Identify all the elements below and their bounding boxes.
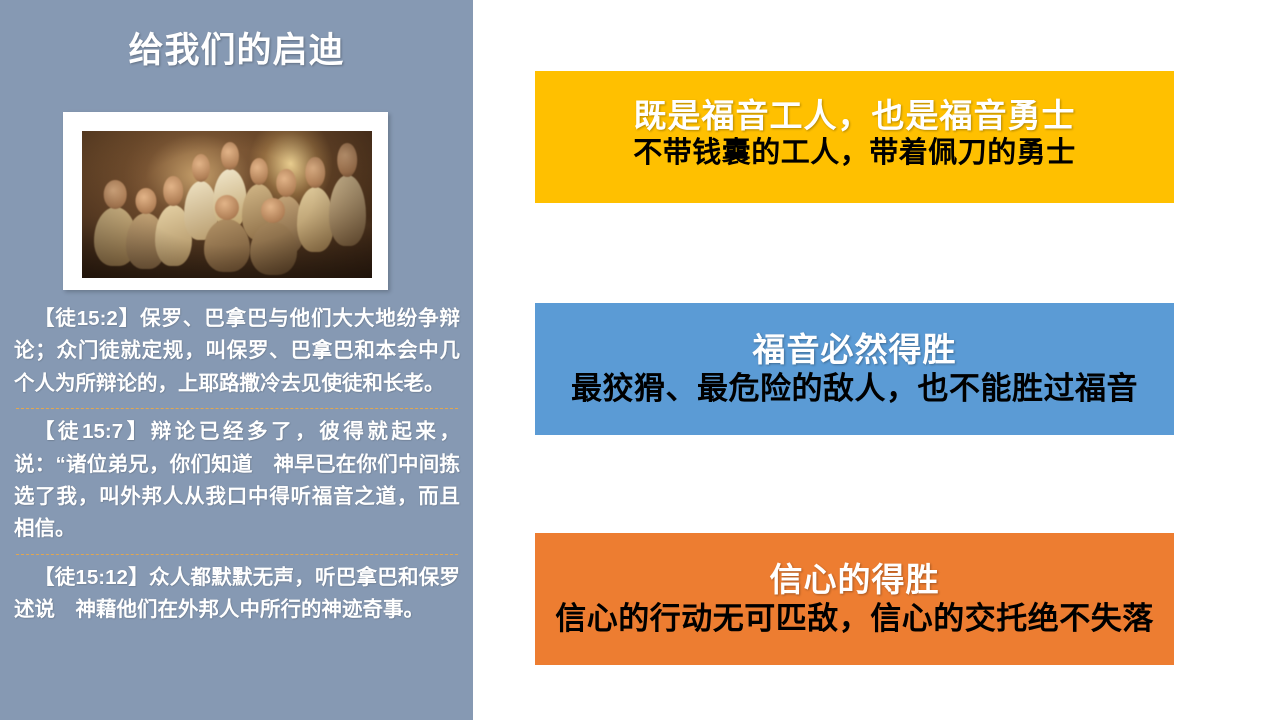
scripture-verse-2: 【徒15:7】辩论已经多了，彼得就起来，说：“诸位弟兄，你们知道 神早已在你们中… <box>14 416 460 546</box>
scripture-verse-1: 【徒15:2】保罗、巴拿巴与他们大大地纷争辩论；众门徒就定规，叫保罗、巴拿巴和本… <box>14 303 460 400</box>
banner-headline: 既是福音工人，也是福音勇士 <box>535 97 1174 136</box>
page-title: 给我们的启迪 <box>0 30 473 72</box>
illustration-image <box>82 131 372 278</box>
banner-headline: 信心的得胜 <box>535 561 1174 600</box>
scripture-list: 【徒15:2】保罗、巴拿巴与他们大大地纷争辩论；众门徒就定规，叫保罗、巴拿巴和本… <box>14 303 460 626</box>
banner-gospel-victory: 福音必然得胜 最狡猾、最危险的敌人，也不能胜过福音 <box>535 303 1174 435</box>
illustration-frame <box>63 112 388 290</box>
left-panel: 给我们的启迪 【徒15:2】保罗、巴拿巴与他们大大地纷争辩论；众门徒就定规，叫保… <box>0 0 473 720</box>
banner-headline: 福音必然得胜 <box>535 331 1174 370</box>
illustration-vignette <box>82 131 372 278</box>
banner-gospel-worker-warrior: 既是福音工人，也是福音勇士 不带钱囊的工人，带着佩刀的勇士 <box>535 71 1174 203</box>
verse-separator <box>16 554 458 555</box>
banner-subline: 信心的行动无可匹敌，信心的交托绝不失落 <box>535 600 1174 638</box>
verse-separator <box>16 408 458 409</box>
banner-subline: 最狡猾、最危险的敌人，也不能胜过福音 <box>535 370 1174 408</box>
banner-subline: 不带钱囊的工人，带着佩刀的勇士 <box>535 136 1174 171</box>
scripture-verse-3: 【徒15:12】众人都默默无声，听巴拿巴和保罗述说 神藉他们在外邦人中所行的神迹… <box>14 562 460 627</box>
banner-faith-victory: 信心的得胜 信心的行动无可匹敌，信心的交托绝不失落 <box>535 533 1174 665</box>
